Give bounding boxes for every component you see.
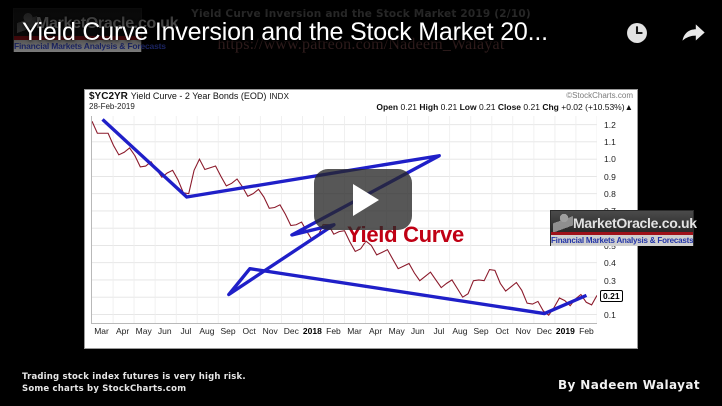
x-axis-tick: 2018 (303, 326, 322, 336)
chg-value: +0.02 (+10.53%) (561, 102, 624, 112)
chart-date: 28-Feb-2019 (89, 102, 135, 111)
open-label: Open (376, 102, 398, 112)
high-value: 0.21 (441, 102, 458, 112)
close-value: 0.21 (523, 102, 540, 112)
overlay-action-bar (622, 18, 708, 48)
y-axis-tick: 0.9 (604, 172, 616, 182)
chart-symbol-line: $YC2YR Yield Curve - 2 Year Bonds (EOD) … (89, 91, 289, 102)
x-axis-tick: Aug (199, 326, 214, 336)
x-axis-tick: Nov (263, 326, 278, 336)
x-axis-tick: Jul (433, 326, 444, 336)
y-axis-tick: 0.4 (604, 258, 616, 268)
x-axis-tick: Aug (452, 326, 467, 336)
share-button[interactable] (678, 18, 708, 48)
x-axis-tick: Dec (284, 326, 299, 336)
slide-author: By Nadeem Walayat (558, 378, 700, 392)
disclaimer-line-2: Some charts by StockCharts.com (22, 383, 246, 395)
x-axis-tick: May (136, 326, 152, 336)
x-axis-tick: Apr (369, 326, 382, 336)
x-axis-tick: Sep (473, 326, 488, 336)
chg-label: Chg (542, 102, 559, 112)
play-triangle-icon (353, 184, 379, 216)
chart-header: $YC2YR Yield Curve - 2 Year Bonds (EOD) … (85, 90, 637, 116)
x-axis-tick: Jun (411, 326, 425, 336)
chg-up-arrow-icon: ▲ (625, 102, 633, 112)
watermark-figure-icon (553, 213, 573, 233)
slide-disclaimer: Trading stock index futures is very high… (22, 371, 246, 395)
x-axis-tick: Oct (243, 326, 256, 336)
x-axis-tick: Dec (537, 326, 552, 336)
x-axis-tick: Mar (347, 326, 362, 336)
disclaimer-line-1: Trading stock index futures is very high… (22, 371, 246, 383)
share-arrow-icon (679, 19, 707, 47)
y-axis-tick: 1.0 (604, 154, 616, 164)
chart-x-axis: MarAprMayJunJulAugSepOctNovDec2018FebMar… (91, 326, 597, 344)
x-axis-tick: Jun (158, 326, 172, 336)
watermark-subtitle: Financial Markets Analysis & Forecasts (551, 235, 693, 246)
y-axis-tick: 0.1 (604, 310, 616, 320)
x-axis-tick: May (389, 326, 405, 336)
y-axis-tick: 1.1 (604, 137, 616, 147)
chart-watermark-marketoracle: MarketOracle.co.uk Financial Markets Ana… (550, 210, 694, 246)
x-axis-tick: Jul (180, 326, 191, 336)
x-axis-tick: Mar (94, 326, 109, 336)
video-player[interactable]: MarketOracle.co.uk Financial Markets Ana… (0, 0, 722, 406)
low-label: Low (460, 102, 477, 112)
close-label: Close (498, 102, 521, 112)
video-title[interactable]: Yield Curve Inversion and the Stock Mark… (22, 17, 570, 47)
play-button[interactable] (314, 169, 412, 230)
chart-quote-line: Open 0.21 High 0.21 Low 0.21 Close 0.21 … (376, 102, 633, 112)
x-axis-tick: Sep (220, 326, 235, 336)
y-axis-tick: 1.2 (604, 120, 616, 130)
y-axis-tick: 0.3 (604, 276, 616, 286)
watch-later-button[interactable] (622, 18, 652, 48)
x-axis-tick: Oct (496, 326, 509, 336)
high-label: High (419, 102, 438, 112)
x-axis-tick: 2019 (556, 326, 575, 336)
last-value-tag: 0.21 (600, 290, 623, 302)
open-value: 0.21 (400, 102, 417, 112)
x-axis-tick: Apr (116, 326, 129, 336)
low-value: 0.21 (479, 102, 496, 112)
chart-brand: ©StockCharts.com (566, 91, 633, 100)
watermark-title: MarketOracle.co.uk (573, 215, 697, 231)
x-axis-tick: Nov (516, 326, 531, 336)
y-axis-tick: 0.8 (604, 189, 616, 199)
clock-icon (624, 20, 650, 46)
x-axis-tick: Feb (326, 326, 341, 336)
x-axis-tick: Feb (579, 326, 594, 336)
